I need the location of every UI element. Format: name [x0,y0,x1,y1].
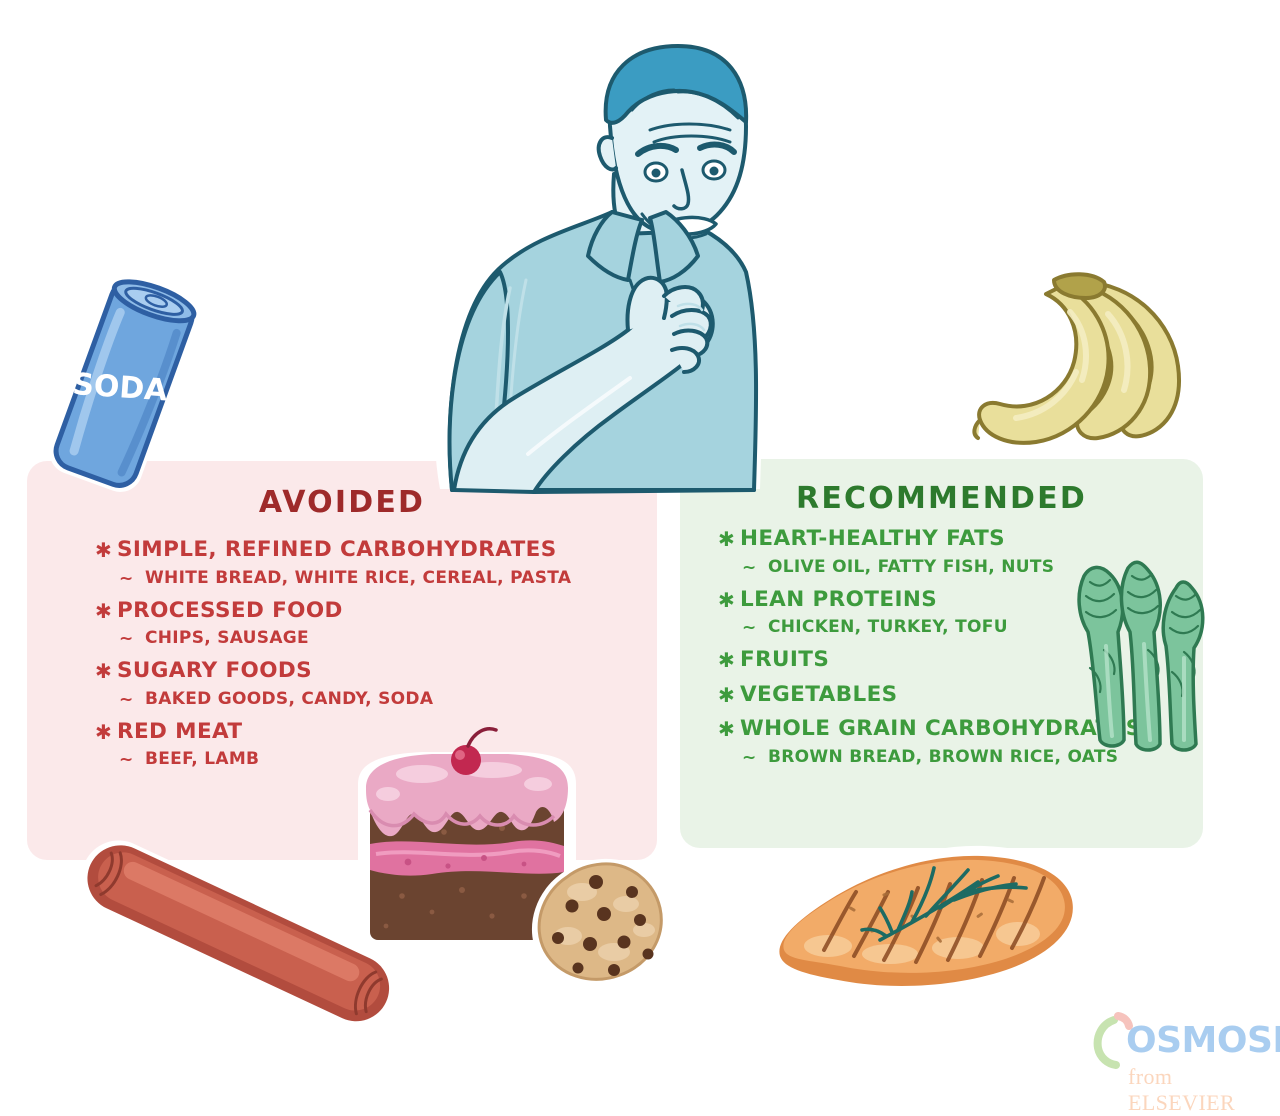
tilde-bullet-icon: ~ [742,620,768,637]
list-item-label: FRUITS [740,649,829,671]
soda-can-illustration: SODA [24,274,224,494]
osmosis-logo: OSMOSIS from ELSEVIER [1092,1012,1272,1096]
cookie-illustration [528,858,676,988]
list-subitem-label: CHIPS, SAUSAGE [145,630,309,647]
list-subitem-label: WHITE BREAD, WHITE RICE, CEREAL, PASTA [145,570,571,587]
osmosis-tagline: from ELSEVIER [1128,1064,1272,1116]
list-item-label: LEAN PROTEINS [740,589,937,611]
asterisk-bullet-icon: ✱ [718,529,740,549]
list-item-label: SUGARY FOODS [117,660,312,682]
asterisk-bullet-icon: ✱ [718,719,740,739]
list-item-label: SIMPLE, REFINED CARBOHYDRATES [117,539,557,561]
list-item-label: HEART-HEALTHY FATS [740,528,1005,550]
list-subitem: ~ WHITE BREAD, WHITE RICE, CEREAL, PASTA [119,570,725,587]
list-subitem-label: OLIVE OIL, FATTY FISH, NUTS [768,559,1054,576]
list-subitem-label: BAKED GOODS, CANDY, SODA [145,691,433,708]
osmosis-wordmark: OSMOSIS [1126,1020,1280,1061]
list-subitem-label: CHICKEN, TURKEY, TOFU [768,619,1008,636]
tilde-bullet-icon: ~ [119,752,145,769]
tilde-bullet-icon: ~ [119,631,145,648]
list-subitem: ~ CHIPS, SAUSAGE [119,630,725,647]
list-subitem-label: BEEF, LAMB [145,751,259,768]
infographic-canvas: AVOIDED ✱ SIMPLE, REFINED CARBOHYDRATES … [0,0,1280,1100]
grilled-chicken-illustration [762,842,1092,1012]
list-item: ✱ SUGARY FOODS [95,660,725,682]
tilde-bullet-icon: ~ [119,692,145,709]
asterisk-bullet-icon: ✱ [95,540,117,560]
list-item: ✱ PROCESSED FOOD [95,600,725,622]
tilde-bullet-icon: ~ [742,560,768,577]
tilde-bullet-icon: ~ [119,571,145,588]
list-subitem: ~ BAKED GOODS, CANDY, SODA [119,691,725,708]
list-item-label: RED MEAT [117,721,243,743]
tilde-bullet-icon: ~ [742,750,768,767]
asterisk-bullet-icon: ✱ [718,590,740,610]
list-item-label: PROCESSED FOOD [117,600,343,622]
list-item: ✱ SIMPLE, REFINED CARBOHYDRATES [95,539,725,561]
asterisk-bullet-icon: ✱ [718,650,740,670]
list-item-label: VEGETABLES [740,684,898,706]
asterisk-bullet-icon: ✱ [95,661,117,681]
asterisk-bullet-icon: ✱ [95,722,117,742]
bananas-illustration [958,264,1198,454]
asterisk-bullet-icon: ✱ [718,685,740,705]
man-with-chest-pain-illustration [416,34,766,494]
soda-can-label: SODA [71,367,169,409]
asparagus-illustration [1066,546,1216,756]
asterisk-bullet-icon: ✱ [95,601,117,621]
